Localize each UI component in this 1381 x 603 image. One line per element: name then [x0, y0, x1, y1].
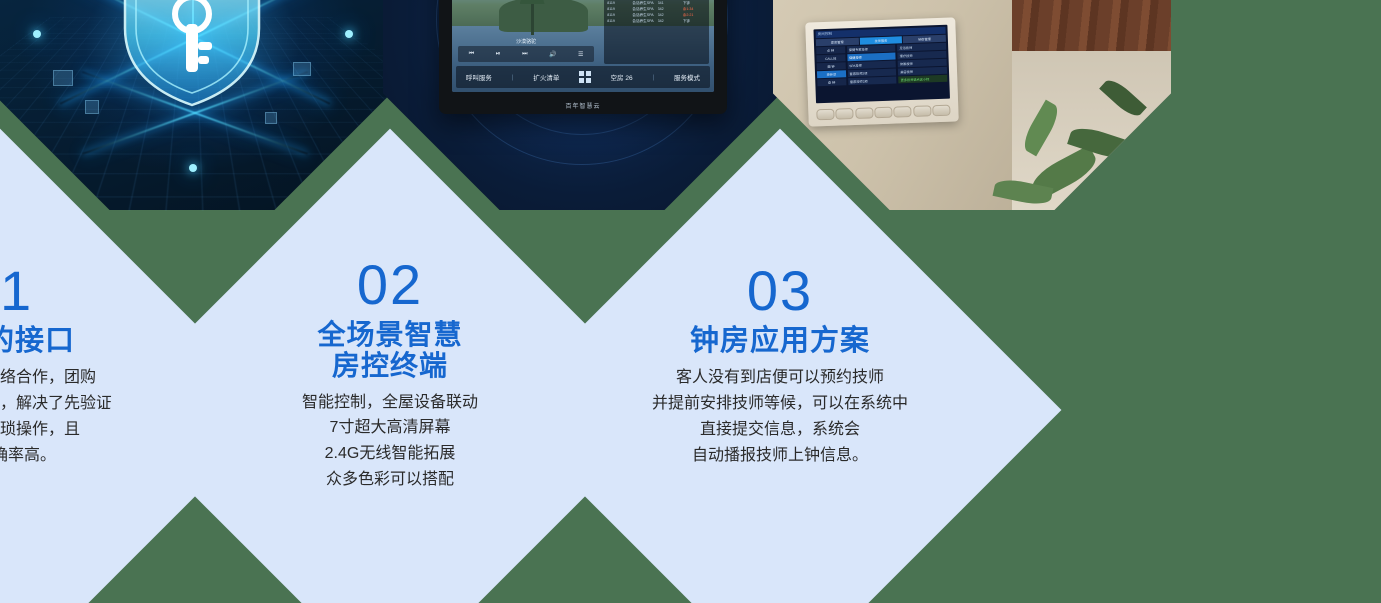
hard-button[interactable]: [894, 106, 912, 118]
panel-column-right[interactable]: 足浴技师 理疗技师 修脚技师 美容技师 更多技师请点这小标: [897, 43, 948, 99]
hard-button[interactable]: [816, 109, 834, 121]
cell-tech: 8119: [607, 19, 630, 24]
tablet-device[interactable]: CSUIBO 22:35 SPA6排 26°C 11/24: [439, 0, 727, 114]
btn-call-service[interactable]: 呼叫服务: [466, 72, 492, 82]
table-row[interactable]: 8119 会话养生SPA 341 下钟: [607, 1, 706, 6]
play-icon[interactable]: ⏯: [496, 50, 501, 57]
card-title-02: 全场景智慧 房控终端: [317, 319, 462, 382]
media-track-label: 沙漠骆驼: [458, 38, 594, 45]
opt-more-tech[interactable]: 更多技师请点这小标: [898, 75, 947, 84]
wallpaper-tree: [531, 0, 534, 35]
glow-node: [33, 30, 41, 38]
table-row[interactable]: 8119 会话养生SPA 342 下钟: [607, 19, 706, 24]
divider: |: [512, 73, 514, 80]
next-icon[interactable]: ⏭: [522, 51, 527, 58]
btn-fire-list[interactable]: 扩火清单: [533, 72, 559, 82]
panel-column-left[interactable]: 保健专家技师 保健技师 SPA技师 套票技师2项 套票技师3项: [847, 45, 898, 101]
cell-end: 342: [658, 19, 681, 24]
cell-tech: 8119: [607, 1, 630, 6]
tablet-brand-bottom: 百年智慧云: [439, 101, 727, 110]
card-number-01: 01: [0, 263, 33, 319]
hard-button[interactable]: [932, 105, 950, 117]
panel-side-menu[interactable]: 点 钟 CALL技 面 钟 换钟项 查 钟: [816, 46, 846, 101]
cell-end: 341: [658, 1, 681, 6]
panel-hard-buttons[interactable]: [816, 105, 950, 121]
apps-grid-icon[interactable]: [579, 71, 591, 83]
wall-control-panel[interactable]: 房间控制 客房管理 技师服务 钟房管理 点 钟 CALL技 面 钟 换钟项: [805, 17, 959, 126]
hard-button[interactable]: [874, 107, 892, 119]
hard-button[interactable]: [836, 108, 854, 120]
wallpaper-island: [499, 0, 588, 32]
hard-button[interactable]: [913, 105, 931, 117]
cell-end: 342: [658, 7, 681, 12]
btn-service-mode[interactable]: 服务模式: [674, 72, 700, 82]
circuit-chip: [265, 112, 277, 124]
circuit-chip: [85, 100, 99, 114]
side-item-mianzhong[interactable]: 面 钟: [817, 62, 846, 70]
media-controls[interactable]: ⏮ ⏯ ⏭ 🔊 ☰: [458, 46, 594, 62]
tablet-screen[interactable]: 22:35 SPA6排 26°C 11/24 技师 房间 结束: [452, 0, 714, 92]
diamond-feature-section: 01 强大的接口 与多家团购网络合作，团购 验证和结算同步，解决了先验证 后结算…: [0, 0, 1381, 603]
prev-icon[interactable]: ⏮: [469, 51, 474, 58]
side-item-chazhong[interactable]: 查 钟: [817, 78, 846, 86]
card-body-03: 客人没有到店便可以预约技师 并提前安排技师等候，可以在系统中 直接提交信息，系统…: [615, 365, 945, 469]
card-title-03: 钟房应用方案: [690, 325, 870, 357]
btn-empty-rooms[interactable]: 空房 26: [611, 72, 633, 82]
card-number-03: 03: [747, 263, 813, 319]
circuit-chip: [53, 70, 73, 86]
card-number-02: 02: [357, 257, 423, 313]
panel-screen[interactable]: 房间控制 客房管理 技师服务 钟房管理 点 钟 CALL技 面 钟 换钟项: [813, 25, 950, 104]
glow-node: [189, 164, 197, 172]
table-row[interactable]: 8119 会话养生SPA 342 余2:21: [607, 13, 706, 18]
volume-icon[interactable]: 🔊: [549, 51, 556, 58]
tablet-bottom-bar[interactable]: 呼叫服务 | 扩火清单 空房 26 | 服务模式: [456, 66, 710, 88]
side-item-call[interactable]: CALL技: [816, 54, 845, 62]
divider: |: [652, 73, 654, 80]
opt-pack3[interactable]: 套票技师3项: [848, 76, 897, 85]
side-item-huanzhong[interactable]: 换钟项: [817, 70, 846, 78]
side-item-dianzhong[interactable]: 点 钟: [816, 46, 845, 54]
cell-room: 会话养生SPA: [632, 7, 655, 12]
shield-lock-icon: [117, 0, 267, 112]
card-title-01: 强大的接口: [0, 325, 75, 357]
cell-tech: 8119: [607, 13, 630, 18]
playlist-icon[interactable]: ☰: [578, 51, 583, 58]
circuit-chip: [293, 62, 311, 76]
cell-room: 会话养生SPA: [632, 19, 655, 24]
cell-room: 会话养生SPA: [632, 1, 655, 6]
panel-columns: 保健专家技师 保健技师 SPA技师 套票技师2项 套票技师3项 足浴技师 理疗技…: [847, 43, 948, 100]
hard-button[interactable]: [855, 107, 873, 119]
panel-body: 点 钟 CALL技 面 钟 换钟项 查 钟 保健专家技师 保健技师 S: [816, 43, 948, 102]
cell-room: 会话养生SPA: [632, 13, 655, 18]
cell-tech: 8119: [607, 7, 630, 12]
cell-end: 342: [658, 13, 681, 18]
spa-wall-control-panel-image: 房间控制 客房管理 技师服务 钟房管理 点 钟 CALL技 面 钟 换钟项: [773, 0, 1171, 210]
